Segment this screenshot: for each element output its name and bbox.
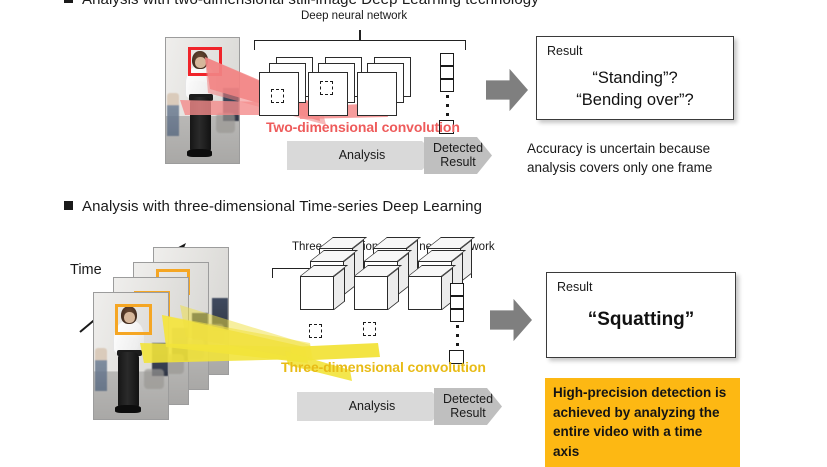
highlight-note-line: High-precision detection is (553, 383, 732, 403)
analysis-label: Analysis (349, 400, 396, 413)
flow-arrow-right-icon (490, 298, 532, 342)
detected-result-chevron: Detected Result (434, 388, 502, 425)
section-header-three-dimensional: Analysis with three-dimensional Time-ser… (64, 198, 482, 215)
detected-label-line1: Detected (433, 142, 483, 155)
network-bracket (254, 40, 466, 50)
video-frame-1 (93, 292, 169, 420)
two-dimensional-convolution-label: Two-dimensional convolution (266, 119, 460, 135)
detection-box-red (188, 47, 222, 76)
input-frame-photo (165, 37, 240, 164)
result-line: “Bending over”? (537, 89, 733, 111)
bullet-icon (64, 0, 73, 3)
detected-result-chevron: Detected Result (424, 137, 492, 174)
analysis-chevron: Analysis (287, 141, 437, 170)
time-label: Time (70, 262, 102, 278)
section-header-text: Analysis with three-dimensional Time-ser… (82, 198, 482, 215)
analysis-label: Analysis (339, 149, 386, 162)
receptive-field-icon (271, 89, 284, 103)
network-bracket-stem (359, 30, 361, 41)
analysis-chevron: Analysis (297, 392, 447, 421)
note-line: analysis covers only one frame (527, 158, 712, 177)
highlight-note-line: achieved by analyzing the (553, 403, 732, 423)
result-card-two-dimensional: Result “Standing”? “Bending over”? (536, 36, 734, 120)
result-line: “Standing”? (537, 67, 733, 89)
result-card-label: Result (547, 44, 582, 58)
receptive-field-icon (309, 324, 322, 338)
deep-neural-network-label: Deep neural network (301, 10, 407, 22)
result-line: “Squatting” (547, 309, 735, 331)
detected-label-line2: Result (450, 407, 485, 420)
note-line: Accuracy is uncertain because (527, 139, 712, 158)
highlight-note-line: entire video with a time axis (553, 422, 732, 461)
section-header-two-dimensional: Analysis with two-dimensional still-imag… (64, 0, 539, 8)
three-dimensional-convolution-label: Three-dimensional convolution (281, 359, 486, 375)
section-header-text: Analysis with two-dimensional still-imag… (82, 0, 539, 8)
highlight-note-three-dimensional: High-precision detection is achieved by … (545, 378, 740, 467)
flow-arrow-right-icon (486, 68, 528, 112)
detected-label-line1: Detected (443, 393, 493, 406)
result-card-three-dimensional: Result “Squatting” (546, 272, 736, 358)
receptive-field-icon (320, 81, 333, 95)
note-two-dimensional: Accuracy is uncertain because analysis c… (527, 139, 712, 177)
detected-label-line2: Result (440, 156, 475, 169)
receptive-field-icon (363, 322, 376, 336)
bullet-icon (64, 201, 73, 210)
detection-box-yellow (115, 304, 152, 335)
result-card-label: Result (557, 280, 592, 294)
